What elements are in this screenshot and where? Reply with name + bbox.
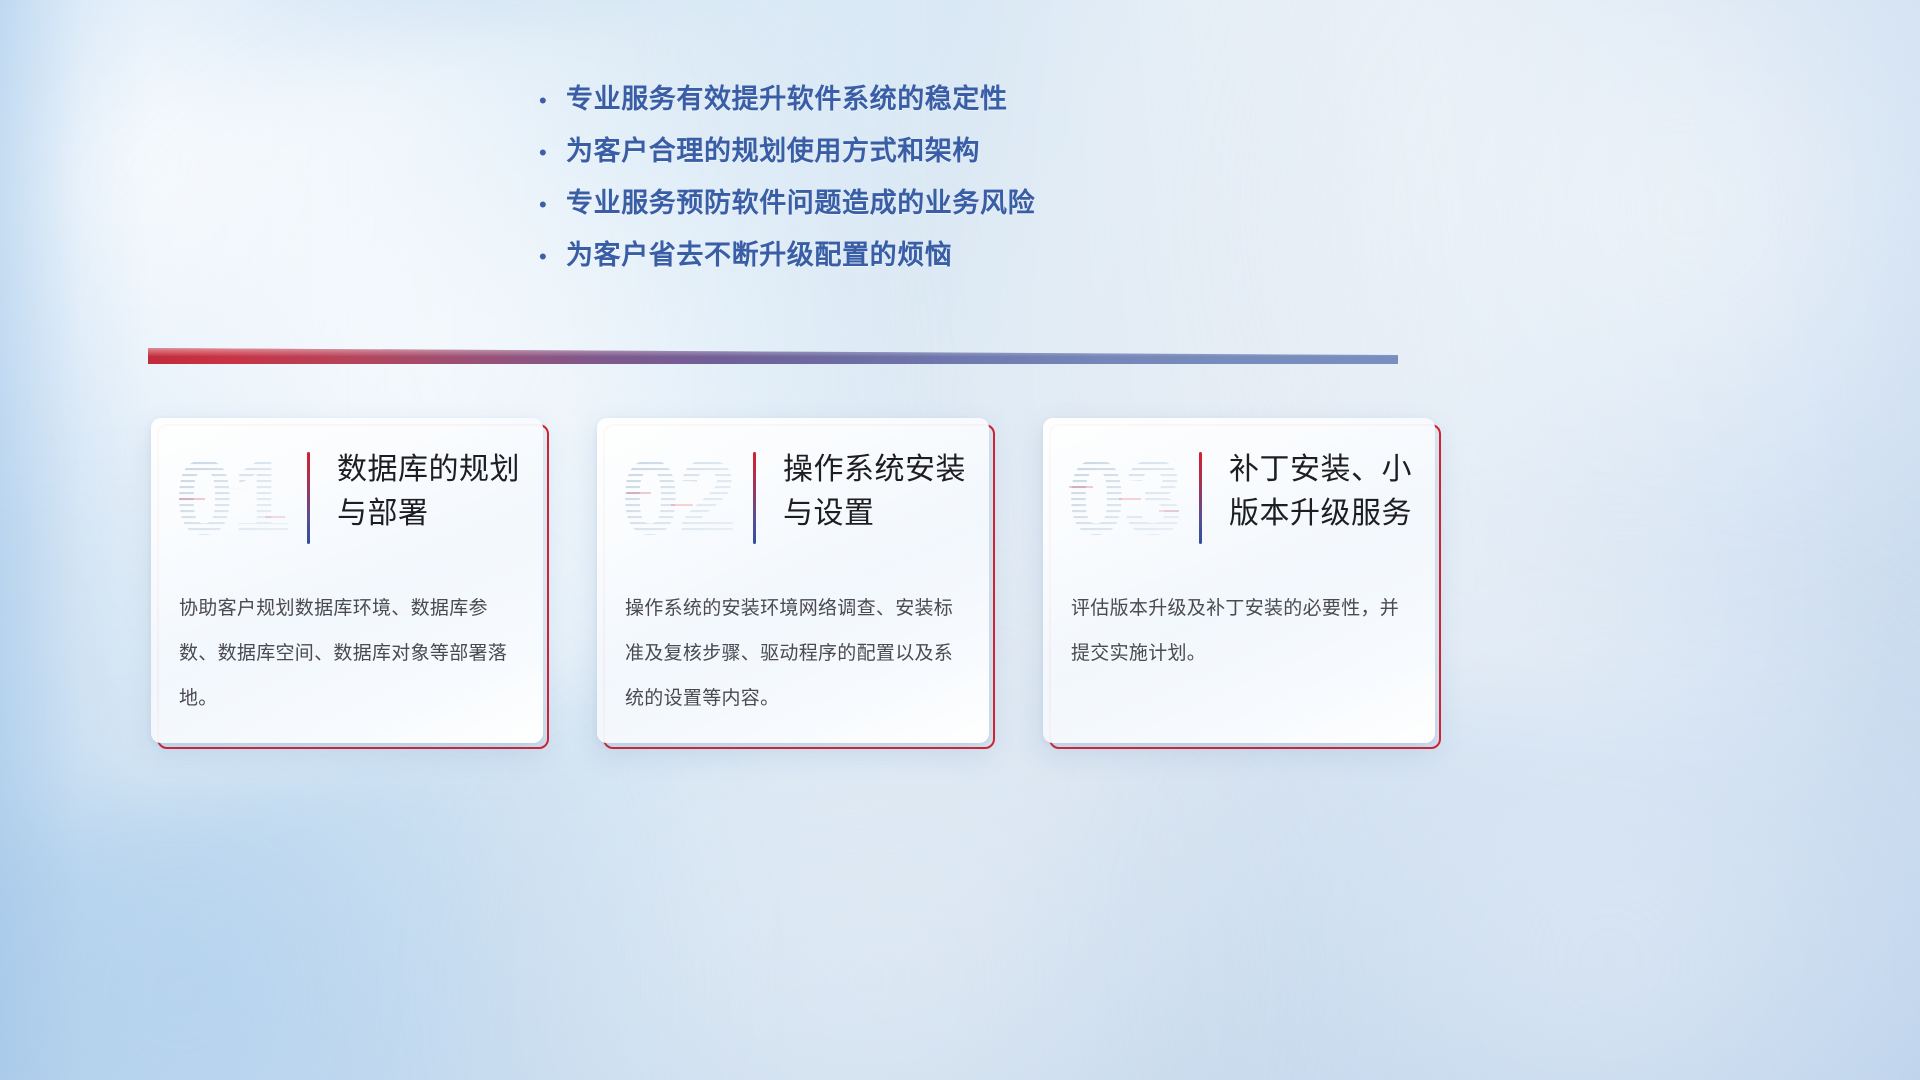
- bullet-item-text: 专业服务预防软件问题造成的业务风险: [566, 190, 1035, 217]
- card-title: 数据库的规划与部署: [337, 448, 522, 536]
- card-number-02-icon: 02: [619, 442, 749, 552]
- bullet-marker-icon: •: [530, 90, 566, 112]
- bullet-item: • 为客户合理的规划使用方式和架构: [530, 138, 1290, 190]
- bullet-item-text: 为客户省去不断升级配置的烦恼: [566, 242, 952, 269]
- service-card[interactable]: 02 操作系统安装与设置 操作系统的安装环境网络调查、安装标准及复核步骤、驱动程…: [597, 418, 989, 743]
- card-accent-bar: [307, 452, 310, 544]
- bullet-item-text: 为客户合理的规划使用方式和架构: [566, 138, 980, 165]
- card-accent-bar: [1199, 452, 1202, 544]
- service-card[interactable]: 03 补丁安装、小版本升级服务 评估版本升级及补丁安装的必要性，并提交实施计划。: [1043, 418, 1435, 743]
- bullet-item-text: 专业服务有效提升软件系统的稳定性: [566, 86, 1008, 113]
- card-title: 补丁安装、小版本升级服务: [1229, 448, 1414, 536]
- svg-text:03: 03: [1067, 442, 1181, 552]
- divider-gloss-overlay: [148, 348, 1398, 364]
- bullet-item: • 专业服务预防软件问题造成的业务风险: [530, 190, 1290, 242]
- card-description: 评估版本升级及补丁安装的必要性，并提交实施计划。: [1071, 586, 1407, 676]
- section-divider: [148, 348, 1398, 364]
- card-row: 01 数据库的规划与部署 协助客户规划数据库环境、数据库参数、数据库空间、数据库…: [0, 418, 1920, 743]
- card-description: 操作系统的安装环境网络调查、安装标准及复核步骤、驱动程序的配置以及系统的设置等内…: [625, 586, 961, 721]
- card-slot: 01 数据库的规划与部署 协助客户规划数据库环境、数据库参数、数据库空间、数据库…: [151, 418, 543, 743]
- card-slot: 02 操作系统安装与设置 操作系统的安装环境网络调查、安装标准及复核步骤、驱动程…: [597, 418, 989, 743]
- card-description: 协助客户规划数据库环境、数据库参数、数据库空间、数据库对象等部署落地。: [179, 586, 515, 721]
- bullet-marker-icon: •: [530, 194, 566, 216]
- card-slot: 03 补丁安装、小版本升级服务 评估版本升级及补丁安装的必要性，并提交实施计划。: [1043, 418, 1435, 743]
- card-accent-bar: [753, 452, 756, 544]
- bullet-item: • 专业服务有效提升软件系统的稳定性: [530, 86, 1290, 138]
- bullet-marker-icon: •: [530, 142, 566, 164]
- card-number-01-icon: 01: [173, 442, 303, 552]
- bullet-item: • 为客户省去不断升级配置的烦恼: [530, 242, 1290, 294]
- background-glow-bottom-center: [420, 700, 1320, 1080]
- svg-text:01: 01: [175, 442, 289, 552]
- service-card[interactable]: 01 数据库的规划与部署 协助客户规划数据库环境、数据库参数、数据库空间、数据库…: [151, 418, 543, 743]
- svg-text:02: 02: [621, 442, 735, 552]
- bullet-list: • 专业服务有效提升软件系统的稳定性 • 为客户合理的规划使用方式和架构 • 专…: [530, 86, 1290, 294]
- bullet-marker-icon: •: [530, 246, 566, 268]
- card-title: 操作系统安装与设置: [783, 448, 968, 536]
- card-number-03-icon: 03: [1065, 442, 1195, 552]
